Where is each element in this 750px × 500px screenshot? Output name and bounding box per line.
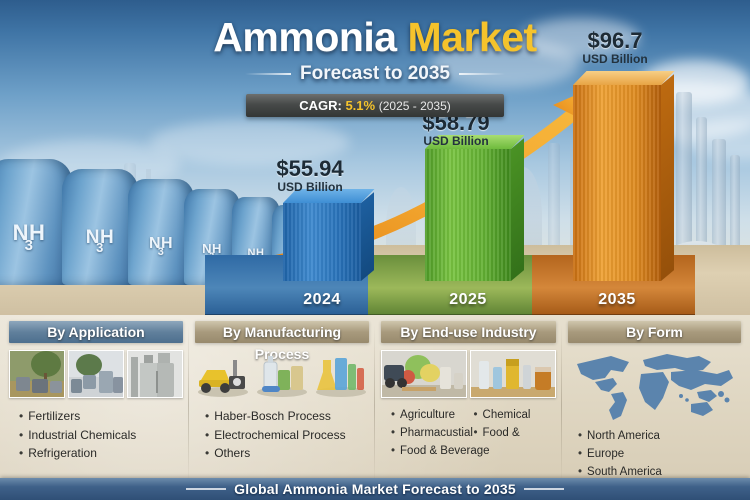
panel-title-by-application: By Application [9, 321, 183, 343]
thumbnail-pharma-beverage [470, 350, 556, 398]
panel-by-manufacturing-process: By Manufacturing Process [190, 321, 374, 500]
page-title: Ammonia Market [0, 14, 750, 61]
cagr-value: 5.1% [345, 98, 375, 113]
segment-panels: By Application [0, 315, 750, 500]
list-item: Haber-Bosch Process [205, 407, 369, 426]
list-item: Agriculture [391, 407, 474, 425]
platform-shadow [205, 314, 695, 315]
value-unit: USD Billion [245, 180, 375, 194]
panel-list-by-manufacturing-process: Haber-Bosch Process Electrochemical Proc… [195, 407, 369, 463]
page-subtitle: Forecast to 2035 [300, 63, 450, 85]
bar-2025[interactable] [425, 149, 511, 281]
panel-thumbnails [195, 350, 369, 398]
list-item: Others [205, 444, 369, 463]
year-label-2024: 2024 [283, 291, 361, 309]
panel-title-by-form: By Form [568, 321, 741, 343]
bar-group-2024 [283, 203, 361, 281]
thumbnail-lab-flasks-icon [313, 350, 369, 398]
footer-title: Global Ammonia Market Forecast to 2035 [234, 481, 516, 497]
list-item: Industrial Chemicals [19, 426, 183, 445]
rule-left-decoration [245, 73, 291, 75]
panel-title-by-end-use-industry: By End-use Industry [381, 321, 556, 343]
list-item: Pharmacustial [391, 425, 474, 443]
list-item: Refrigeration [19, 444, 183, 463]
panel-thumbnails [381, 350, 556, 398]
value-label-2024: $55.94 USD Billion [245, 157, 375, 194]
value-unit: USD Billion [391, 134, 521, 148]
year-label-2025: 2025 [425, 291, 511, 309]
panel-list-by-application: Fertilizers Industrial Chemicals Refrige… [9, 407, 183, 463]
list-item: North America [578, 428, 741, 446]
infographic-root: NH3 NH3 NH3 NH3 NH3 NH3 NH3 Am [0, 0, 750, 500]
thumbnail-fertilizer-field [9, 350, 65, 398]
list-item: Chemical [474, 407, 557, 425]
title-accent: Market [408, 14, 537, 60]
bar-2024[interactable] [283, 203, 361, 281]
bar-group-2025 [425, 149, 511, 281]
panel-list-by-end-use-industry: Agriculture Chemical Pharmacustial Food … [381, 407, 556, 460]
list-item: Fertilizers [19, 407, 183, 426]
list-item: Europe [578, 446, 741, 464]
nh3-tank: NH3 [62, 169, 138, 285]
title-primary: Ammonia [213, 14, 396, 60]
bar-face-front [425, 149, 511, 281]
title-block: Ammonia Market Forecast to 2035 CAGR: 5.… [0, 14, 750, 117]
thumbnail-bottles-cans-icon [254, 350, 310, 398]
year-label-2035: 2035 [573, 291, 661, 309]
panel-by-end-use-industry: By End-use Industry [376, 321, 561, 500]
cagr-label: CAGR: [299, 98, 342, 113]
list-item: Food & [474, 425, 557, 443]
bar-face-side [361, 192, 374, 281]
panel-by-application: By Application [4, 321, 188, 500]
panel-by-form: By Form [563, 321, 746, 500]
world-map-icon [568, 348, 741, 424]
subtitle-row: Forecast to 2035 [0, 63, 750, 85]
value-amount: $55.94 [245, 157, 375, 180]
thumbnail-refrigeration-unit [127, 350, 183, 398]
list-item: Food & Beverage [391, 443, 556, 461]
cagr-period: (2025 - 2035) [379, 99, 451, 113]
bar-face-side [511, 138, 524, 281]
cagr-badge: CAGR: 5.1% (2025 - 2035) [246, 94, 504, 117]
panel-thumbnails [9, 350, 183, 398]
list-item: Electrochemical Process [205, 426, 369, 445]
bar-face-front [283, 203, 361, 281]
rule-right-decoration [459, 73, 505, 75]
thumbnail-agriculture-produce [381, 350, 467, 398]
panel-title-by-manufacturing-process: By Manufacturing Process [195, 321, 369, 343]
footer-rule-right [524, 488, 564, 490]
footer-bar: Global Ammonia Market Forecast to 2035 [0, 478, 750, 500]
hero-scene: NH3 NH3 NH3 NH3 NH3 NH3 NH3 Am [0, 0, 750, 315]
thumbnail-chemical-containers [68, 350, 124, 398]
thumbnail-vehicle-machinery-icon [195, 350, 251, 398]
footer-rule-left [186, 488, 226, 490]
